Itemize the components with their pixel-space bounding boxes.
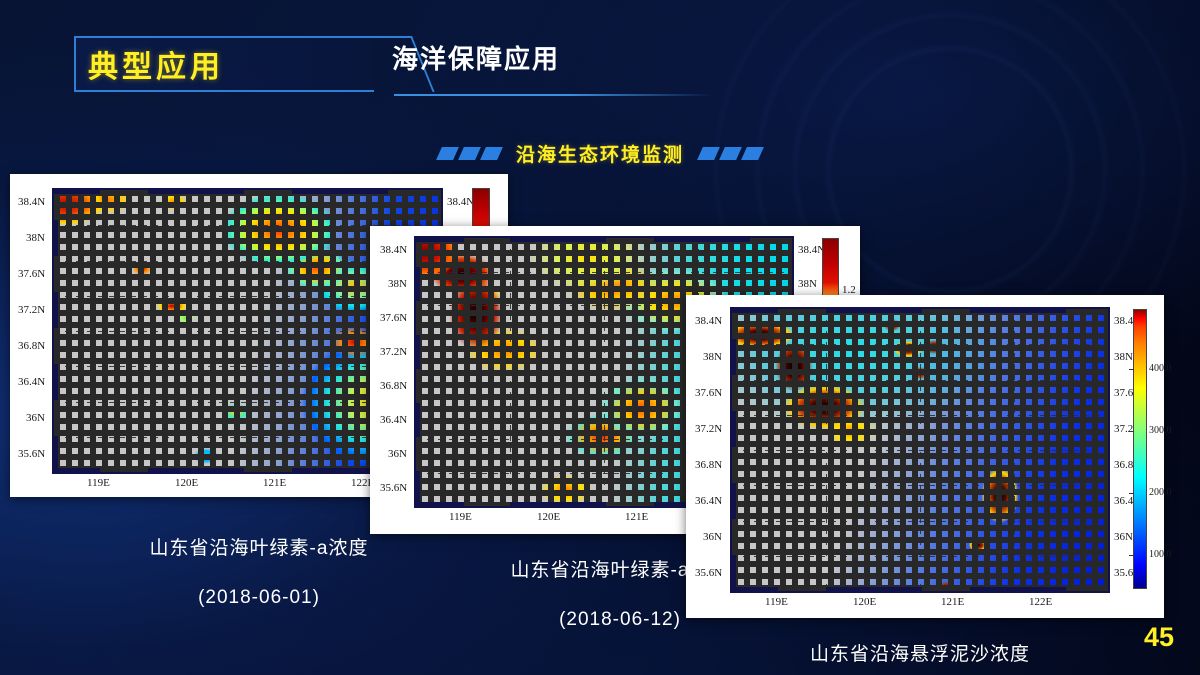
lat-tick-label: 38.4N: [380, 244, 407, 256]
page-title: 典型应用: [88, 39, 368, 89]
lat-tick-label: 36N: [26, 412, 45, 424]
axis-tickbar-left: [730, 483, 736, 519]
axis-tickbar-left: [414, 267, 420, 301]
colorbar-tick-label: 400.0: [1149, 363, 1172, 374]
lat-tick-label: 37.2N: [18, 304, 45, 316]
figure-caption-tsm-0612: 山东省沿海悬浮泥沙浓度 (2018-06-12): [680, 618, 1160, 675]
lat-tick-label: 37.6N: [18, 268, 45, 280]
slide-root: 典型应用 海洋保障应用 沿海生态环境监测 38.4N 38N 37.6N: [0, 0, 1200, 675]
lat-tick-label: 35.6N: [18, 448, 45, 460]
graticule-parallel: [732, 521, 1108, 522]
axis-tickbar-bottom: [730, 587, 778, 593]
colorbar-tick-label: 300.0: [1149, 425, 1172, 436]
lat-tick-label: 36.8N: [18, 340, 45, 352]
graticule-parallel: [732, 380, 1108, 381]
axis-tickbar-top: [52, 188, 100, 194]
lat-tick-label: 35.6N: [695, 567, 722, 579]
page-subtitle: 海洋保障应用: [392, 39, 560, 76]
axis-tickbar-bottom: [148, 468, 244, 474]
axis-tickbar-left: [414, 335, 420, 369]
axis-tickbar-top: [292, 188, 388, 194]
lat-tick-label: 36.8N: [380, 380, 407, 392]
chevron-right-group-icon: [700, 147, 761, 160]
lon-tick-label: 120E: [537, 511, 560, 523]
axis-tickbar-bottom: [970, 587, 1066, 593]
axis-tickbar-top: [654, 236, 750, 242]
page-number: 45: [1144, 622, 1174, 653]
axis-tickbar-left: [52, 292, 58, 328]
colorbar-tsm-0612: [1133, 309, 1147, 589]
lon-tick-label: 120E: [853, 596, 876, 608]
lat-tick-label: 38.4N: [18, 196, 45, 208]
slide-header: 典型应用 海洋保障应用: [0, 36, 1200, 98]
colorbar-tick-mark: [1129, 369, 1134, 370]
colorbar-tick-label: 100.0: [1149, 549, 1172, 560]
axis-tickbar-bottom: [826, 587, 922, 593]
axis-tickbar-top: [510, 236, 606, 242]
figure-card-tsm-0612[interactable]: 38.4N 38N 37.6N 37.2N 36.8N 36.4N 36N 35…: [686, 295, 1164, 618]
lat-tick-label-right: 38.4N: [447, 196, 474, 208]
lon-tick-label: 121E: [263, 477, 286, 489]
lon-tick-label: 122E: [1029, 596, 1052, 608]
lat-tick-label: 37.2N: [380, 346, 407, 358]
lat-tick-label: 36.4N: [18, 376, 45, 388]
colorbar-tick-mark: [1129, 555, 1134, 556]
lat-tick-label: 36N: [388, 448, 407, 460]
map-raster-tsm-0612: [730, 307, 1110, 593]
lat-tick-label: 37.6N: [380, 312, 407, 324]
axis-tickbar-bottom: [510, 502, 606, 508]
lon-tick-label: 120E: [175, 477, 198, 489]
caption-line-1: 山东省沿海悬浮泥沙浓度: [680, 643, 1160, 668]
lat-tick-label: 38N: [388, 278, 407, 290]
graticule-parallel: [732, 485, 1108, 486]
lon-tick-label: 119E: [765, 596, 788, 608]
axis-tickbar-left: [52, 436, 58, 470]
section-banner: 沿海生态环境监测: [0, 138, 1200, 168]
lat-tick-label: 36.8N: [695, 459, 722, 471]
axis-tickbar-bottom: [52, 468, 100, 474]
chevron-left-group-icon: [439, 147, 500, 160]
axis-tickbar-left: [52, 220, 58, 256]
lon-tick-label: 121E: [625, 511, 648, 523]
axis-tickbar-left: [730, 339, 736, 375]
lat-tick-label: 36.4N: [695, 495, 722, 507]
lon-tick-label: 121E: [941, 596, 964, 608]
lat-tick-label: 37.2N: [695, 423, 722, 435]
colorbar-tick-label: 200.0: [1149, 487, 1172, 498]
axis-tickbar-top: [826, 307, 922, 313]
lon-tick-label: 119E: [449, 511, 472, 523]
section-banner-label: 沿海生态环境监测: [516, 140, 684, 167]
lat-tick-label-right: 36N: [1114, 531, 1133, 543]
lat-tick-label: 36.4N: [380, 414, 407, 426]
graticule-parallel: [416, 272, 792, 273]
lon-tick-label: 119E: [87, 477, 110, 489]
axis-tickbar-left: [52, 364, 58, 400]
axis-tickbar-top: [414, 236, 464, 242]
axis-tickbar-left: [730, 555, 736, 589]
axis-tickbar-left: [730, 411, 736, 447]
lat-tick-label: 37.6N: [695, 387, 722, 399]
axis-tickbar-top: [730, 307, 778, 313]
lat-tick-label: 38.4N: [695, 315, 722, 327]
lat-tick-label-right: 38N: [798, 278, 817, 290]
graticule-parallel: [732, 450, 1108, 451]
colorbar-chl-0612: [822, 238, 839, 296]
colorbar-tick-mark: [1129, 431, 1134, 432]
header-underline: [394, 94, 714, 96]
axis-tickbar-top: [148, 188, 244, 194]
axis-tickbar-left: [414, 471, 420, 505]
lat-tick-label: 35.6N: [380, 482, 407, 494]
axis-tickbar-top: [970, 307, 1066, 313]
lat-tick-label: 38N: [703, 351, 722, 363]
graticule-parallel: [732, 344, 1108, 345]
axis-tickbar-left: [414, 403, 420, 437]
colorbar-tick-mark: [1129, 493, 1134, 494]
graticule-parallel: [732, 556, 1108, 557]
axis-tickbar-bottom: [414, 502, 464, 508]
graticule-parallel: [732, 415, 1108, 416]
lat-tick-label: 38N: [26, 232, 45, 244]
lat-tick-label-right: 38N: [1114, 351, 1133, 363]
lat-tick-label: 36N: [703, 531, 722, 543]
